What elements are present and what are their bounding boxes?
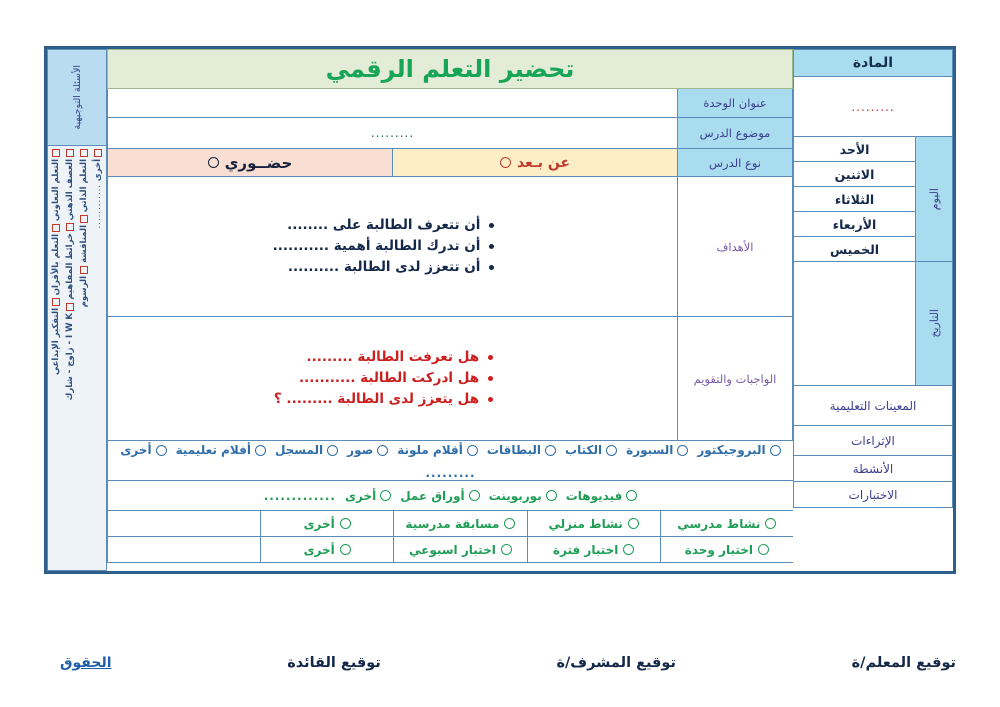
day-cell-thursday[interactable]: الخميس [793,237,915,262]
aid-option-label: أفلام تعليمية [176,443,251,457]
date-block: التاريخ [793,262,953,386]
subject-header: المادة [793,49,953,77]
enrichment-option-label: بوربوينت [489,489,542,503]
lesson-type-onsite-option[interactable]: حضــوري [107,149,392,177]
checkbox-square-icon[interactable] [66,149,74,157]
strategy-label: التعلم الذاتي [79,159,89,212]
checkbox-circle-icon[interactable] [501,544,512,555]
activity-option-school[interactable]: نشاط مدرسي [660,511,793,537]
supervisor-signature-label: توقيع المشرف/ة [556,655,676,671]
checkbox-circle-icon[interactable] [255,445,266,456]
strategy-item-brainstorming[interactable]: العصف الذهني [65,149,75,220]
exam-option-period[interactable]: اختبار فترة [527,537,660,563]
aid-option-board[interactable]: السبورة [626,443,688,457]
enrichment-label: الإثراءات [793,426,953,456]
enrichment-option-label: أخرى [345,489,376,503]
checkbox-circle-icon[interactable] [677,445,688,456]
activities-label: الأنشطة [793,456,953,482]
checkbox-circle-icon[interactable] [758,544,769,555]
checkbox-square-icon[interactable] [66,303,74,311]
assessment-item: هل ادركت الطالبة ........... [274,368,493,389]
aid-option-educational-films[interactable]: أفلام تعليمية [176,443,266,457]
checkbox-circle-icon[interactable] [340,518,351,529]
exam-option-weekly[interactable]: اختبار اسبوعي [393,537,526,563]
strategy-label: التعلم التعاوني [51,159,61,221]
strategy-item-concept-maps[interactable]: خرائط المفاهيم [65,223,75,300]
date-label-text: التاريخ [928,309,941,338]
checkbox-circle-icon[interactable] [156,445,167,456]
assessment-item: هل تعرفت الطالبة ......... [274,347,493,368]
checkbox-circle-icon[interactable] [504,518,515,529]
strategy-item-creative-thinking[interactable]: التفكير الإبداعي [51,298,61,375]
goals-body[interactable]: أن تتعرف الطالبة على ........ أن تدرك ال… [107,177,677,317]
teaching-aids-row: البروجيكتور السبورة الكتاب البطاقات أقلا… [107,441,793,481]
enrichment-option-other[interactable]: أخرى [345,489,391,503]
teaching-aids-label: المعينات التعليمية [793,386,953,426]
checkbox-square-icon[interactable] [52,224,60,232]
date-column-label: التاريخ [915,262,953,386]
enrichment-option-worksheets[interactable]: أوراق عمل [400,489,479,503]
date-value-cell[interactable] [793,262,915,386]
activity-notes-cell[interactable] [107,511,260,537]
exam-option-unit[interactable]: اختبار وحدة [660,537,793,563]
checkbox-circle-icon[interactable] [469,490,480,501]
checkbox-circle-icon[interactable] [623,544,634,555]
goals-item: أن تتعرف الطالبة على ........ [273,215,495,236]
strategy-label: المناقشة [79,225,89,263]
enrichment-option-label: فيديوهات [566,489,623,503]
checkbox-circle-icon[interactable] [546,490,557,501]
subject-value[interactable]: ......... [793,77,953,137]
strategies-column-2: العصف الذهني خرائط المفاهيم I W K - زاوج… [63,149,77,567]
goals-row: الأهداف أن تتعرف الطالبة على ........ أن… [107,177,793,317]
aid-option-recorder[interactable]: المسجل [275,443,338,457]
assessment-label: الواجبات والتقويم [677,317,793,441]
day-column-label: اليوم [915,137,953,262]
exam-option-other[interactable]: أخرى [260,537,393,563]
lesson-topic-value[interactable]: ......... [107,118,677,149]
checkbox-circle-icon[interactable] [545,445,556,456]
strategies-column-1: التعلم التعاوني التعلم بالأقران التفكير … [49,149,63,567]
exam-option-label: أخرى [304,543,335,557]
aid-option-label: البروجيكتور [697,443,765,457]
aid-option-label: أخرى [120,443,151,457]
strategy-dots: ............ [93,184,103,228]
lesson-plan-sheet: المادة ......... اليوم الأحد الاثنين الث… [44,46,956,574]
aid-option-label: صور [347,443,373,457]
checkbox-circle-icon[interactable] [626,490,637,501]
enrichment-options: فيديوهات بوربوينت أوراق عمل أخرى .......… [107,481,793,511]
checkbox-circle-icon[interactable] [377,445,388,456]
strategies-strip: الأسئلة التوجيهية التعلم التعاوني التعلم… [47,49,107,571]
activity-option-other[interactable]: أخرى [260,511,393,537]
teaching-aids-options: البروجيكتور السبورة الكتاب البطاقات أقلا… [107,441,793,481]
enrichment-option-powerpoint[interactable]: بوربوينت [489,489,557,503]
aid-option-label: الكتاب [565,443,602,457]
day-cell-monday[interactable]: الاثنين [793,162,915,187]
aid-option-cards[interactable]: البطاقات [487,443,556,457]
checkbox-circle-icon[interactable] [327,445,338,456]
exams-row: اختبار وحدة اختبار فترة اختبار اسبوعي أخ… [107,537,793,563]
enrichment-option-label: أوراق عمل [400,489,464,503]
aid-trailing-dots: ......... [425,466,475,480]
activities-row: نشاط مدرسي نشاط منزلي مسابقة مدرسية أخرى [107,511,793,537]
unit-title-value[interactable] [107,89,677,118]
lesson-topic-row: موضوع الدرس ......... [107,118,793,149]
strategy-label: I W K - زاوج - شارك [65,313,75,400]
strategy-label: العصف الذهني [65,159,75,220]
days-block: اليوم الأحد الاثنين الثلاثاء الأربعاء ال… [793,137,953,262]
days-list: الأحد الاثنين الثلاثاء الأربعاء الخميس [793,137,915,262]
activity-option-home[interactable]: نشاط منزلي [527,511,660,537]
checkbox-square-icon[interactable] [94,149,102,157]
activity-option-label: نشاط مدرسي [677,517,760,531]
lesson-topic-label: موضوع الدرس [677,118,793,149]
aid-option-pictures[interactable]: صور [347,443,388,457]
checkbox-circle-icon[interactable] [467,445,478,456]
radio-circle-icon[interactable] [500,157,511,168]
activity-option-label: مسابقة مدرسية [405,517,499,531]
goals-label: الأهداف [677,177,793,317]
guiding-questions-cell: الأسئلة التوجيهية [47,49,107,146]
day-label-text: اليوم [928,188,941,210]
exam-option-label: اختبار اسبوعي [409,543,496,557]
aid-option-label: السبورة [626,443,673,457]
checkbox-circle-icon[interactable] [628,518,639,529]
right-label-column: المادة ......... اليوم الأحد الاثنين الث… [793,49,953,571]
checkbox-circle-icon[interactable] [606,445,617,456]
strategy-item-self-learning[interactable]: التعلم الذاتي [79,149,89,212]
radio-circle-icon[interactable] [208,157,219,168]
strategy-item-other[interactable]: أخرى [93,149,103,181]
checkbox-circle-icon[interactable] [340,544,351,555]
activity-option-label: نشاط منزلي [549,517,623,531]
exam-option-label: اختبار فترة [553,543,618,557]
checkbox-circle-icon[interactable] [770,445,781,456]
teacher-signature-label: توقيع المعلم/ة [852,655,956,671]
strategy-item-drawings[interactable]: الرسوم [79,266,89,307]
checkbox-square-icon[interactable] [52,149,60,157]
day-cell-tuesday[interactable]: الثلاثاء [793,187,915,212]
strategy-label: التعلم بالأقران [51,234,61,295]
strategy-label: التفكير الإبداعي [51,308,61,375]
aid-option-projector[interactable]: البروجيكتور [697,443,780,457]
aid-option-colored-pens[interactable]: أقلام ملونة [397,443,478,457]
checkbox-circle-icon[interactable] [380,490,391,501]
strategy-label: خرائط المفاهيم [65,233,75,300]
checkbox-square-icon[interactable] [80,215,88,223]
unit-title-label: عنوان الوحدة [677,89,793,118]
aid-option-label: البطاقات [487,443,541,457]
aid-option-label: أقلام ملونة [397,443,463,457]
day-cell-wednesday[interactable]: الأربعاء [793,212,915,237]
checkbox-square-icon[interactable] [80,149,88,157]
strategies-column-3: التعلم الذاتي المناقشة الرسوم [77,149,91,567]
checkbox-circle-icon[interactable] [765,518,776,529]
assessment-body[interactable]: هل تعرفت الطالبة ......... هل ادركت الطا… [107,317,677,441]
strategies-column-4: أخرى ............ [91,149,105,567]
lesson-type-row: نوع الدرس عن بـعد حضــوري [107,149,793,177]
goals-list: أن تتعرف الطالبة على ........ أن تدرك ال… [273,215,513,278]
exams-label: الاختبارات [793,482,953,508]
activity-option-contest[interactable]: مسابقة مدرسية [393,511,526,537]
main-content-column: تحضير التعلم الرقمي عنوان الوحدة موضوع ا… [107,49,793,571]
activity-option-label: أخرى [304,517,335,531]
lesson-type-label: نوع الدرس [677,149,793,177]
aid-option-book[interactable]: الكتاب [565,443,617,457]
document-title-bar: تحضير التعلم الرقمي [107,49,793,89]
enrichment-row: فيديوهات بوربوينت أوراق عمل أخرى .......… [107,481,793,511]
aid-option-label: المسجل [275,443,323,457]
guiding-questions-label: الأسئلة التوجيهية [72,65,83,130]
aid-option-other[interactable]: أخرى [120,443,166,457]
assessment-list: هل تعرفت الطالبة ......... هل ادركت الطا… [274,347,511,410]
exam-option-label: اختبار وحدة [685,543,753,557]
footer-signatures: توقيع المعلم/ة توقيع المشرف/ة توقيع القا… [60,655,956,671]
checkbox-square-icon[interactable] [66,223,74,231]
leader-signature-label: توقيع القائدة [287,655,381,671]
strategies-list: التعلم التعاوني التعلم بالأقران التفكير … [47,146,107,571]
day-cell-sunday[interactable]: الأحد [793,137,915,162]
strategy-other-dots: ............ [93,184,103,228]
strategy-item-cooperative[interactable]: التعلم التعاوني [51,149,61,221]
enrichment-option-videos[interactable]: فيديوهات [566,489,638,503]
rights-link[interactable]: الحقوق [60,655,112,671]
enrichment-trailing-dots: ............. [264,489,336,503]
lesson-type-remote-option[interactable]: عن بـعد [392,149,677,177]
page-title: تحضير التعلم الرقمي [326,55,575,83]
lesson-type-onsite-label: حضــوري [225,154,293,172]
checkbox-square-icon[interactable] [80,266,88,274]
strategy-label: الرسوم [79,276,89,307]
strategy-label: أخرى [93,159,103,181]
goals-item: أن تدرك الطالبة أهمية ........... [273,236,495,257]
goals-item: أن تتعزز لدى الطالبة .......... [273,257,495,278]
exam-notes-cell[interactable] [107,537,260,563]
assessment-row: الواجبات والتقويم هل تعرفت الطالبة .....… [107,317,793,441]
strategy-item-peer[interactable]: التعلم بالأقران [51,224,61,295]
unit-title-row: عنوان الوحدة [107,89,793,118]
lesson-type-remote-label: عن بـعد [517,155,570,171]
strategy-item-think-pair-share[interactable]: I W K - زاوج - شارك [65,303,75,400]
strategy-item-discussion[interactable]: المناقشة [79,215,89,263]
assessment-item: هل يتعزز لدى الطالبة ......... ؟ [274,389,493,410]
checkbox-square-icon[interactable] [52,298,60,306]
